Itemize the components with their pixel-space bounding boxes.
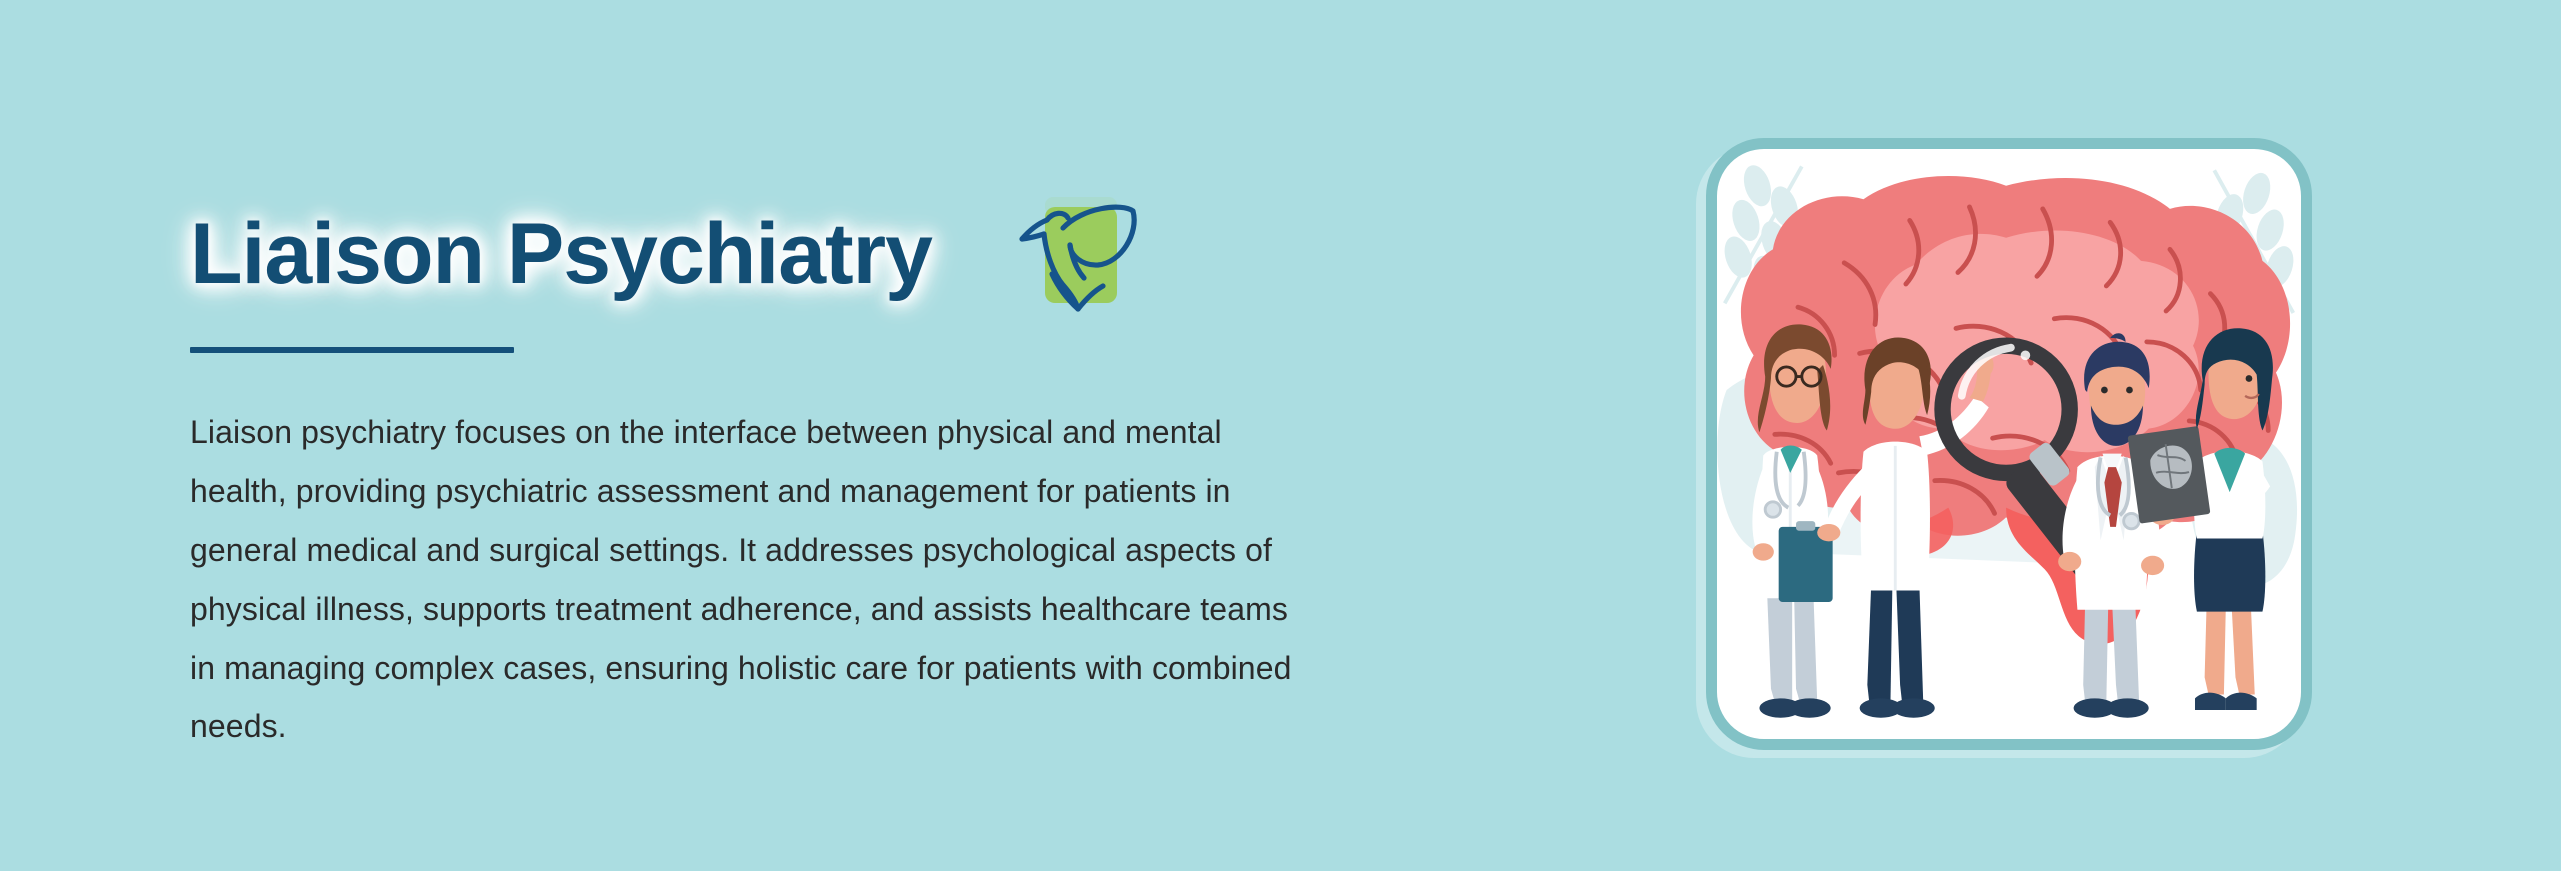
hand <box>2141 556 2164 575</box>
page-root: Liaison Psychiatry <box>0 0 2561 871</box>
hand <box>1817 524 1840 541</box>
illustration-svg <box>1717 149 2301 739</box>
dove-logo <box>1000 195 1150 313</box>
hand <box>1753 543 1774 560</box>
text-column: Liaison Psychiatry <box>190 195 1510 756</box>
title-underline-rule <box>190 347 514 353</box>
shoe <box>2106 698 2148 717</box>
description-text: Liaison psychiatry focuses on the interf… <box>190 403 1310 756</box>
shoe <box>1892 698 1934 717</box>
heeled-shoe <box>2195 693 2226 710</box>
description-paragraph: Liaison psychiatry focuses on the interf… <box>190 403 1310 756</box>
title-row: Liaison Psychiatry <box>190 195 1510 313</box>
brain-xray <box>2127 426 2210 524</box>
page-title: Liaison Psychiatry <box>190 211 932 297</box>
heeled-shoe <box>2226 693 2257 710</box>
hand <box>2058 552 2081 571</box>
illustration-card <box>1706 138 2312 750</box>
skirt <box>2194 531 2265 612</box>
shoe <box>1788 698 1830 717</box>
